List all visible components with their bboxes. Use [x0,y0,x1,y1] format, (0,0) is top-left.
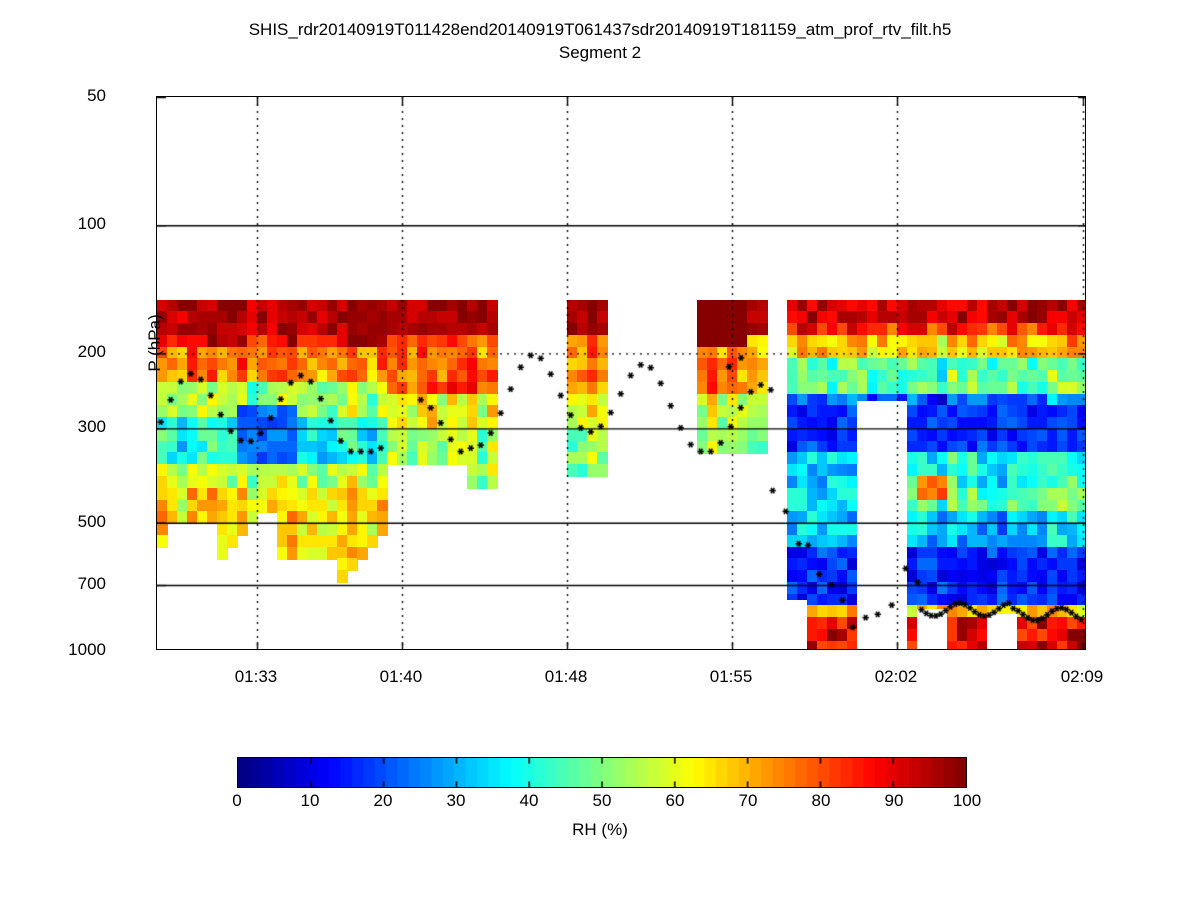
gridlines-and-markers-overlay [157,97,1085,649]
colorbar-gradient [238,758,966,787]
colorbar-tick-label: 90 [864,792,924,809]
colorbar-tick-label: 80 [791,792,851,809]
y-tick-label: 700 [36,575,106,592]
colorbar-tick-label: 0 [207,792,267,809]
colorbar-tick-label: 20 [353,792,413,809]
colorbar-axis-label: RH (%) [0,820,1200,840]
x-tick-label: 01:48 [516,668,616,685]
colorbar-tick-label: 60 [645,792,705,809]
y-tick-label: 300 [36,418,106,435]
figure-title-block: SHIS_rdr20140919T011428end20140919T06143… [0,18,1200,64]
colorbar-tick-label: 50 [572,792,632,809]
x-tick-label: 01:55 [681,668,781,685]
colorbar-tick-label: 30 [426,792,486,809]
y-tick-label: 500 [36,513,106,530]
y-axis-label: P (hPa) [145,253,165,433]
page-title: SHIS_rdr20140919T011428end20140919T06143… [0,18,1200,41]
figure-root: SHIS_rdr20140919T011428end20140919T06143… [0,0,1200,900]
y-tick-label: 1000 [36,641,106,658]
y-tick-label: 200 [36,343,106,360]
colorbar-tick-label: 100 [937,792,997,809]
heatmap-canvas-wrap [157,97,1085,649]
colorbar-tick-label: 10 [280,792,340,809]
x-tick-label: 01:40 [351,668,451,685]
figure-subtitle: Segment 2 [0,41,1200,64]
y-tick-label: 50 [36,87,106,104]
x-tick-label: 02:09 [1032,668,1132,685]
y-tick-label: 100 [36,215,106,232]
colorbar-tick-label: 40 [499,792,559,809]
x-tick-label: 02:02 [846,668,946,685]
plot-area: P (hPa) [156,96,1086,650]
colorbar [237,757,967,788]
x-tick-label: 01:33 [206,668,306,685]
colorbar-tick-label: 70 [718,792,778,809]
